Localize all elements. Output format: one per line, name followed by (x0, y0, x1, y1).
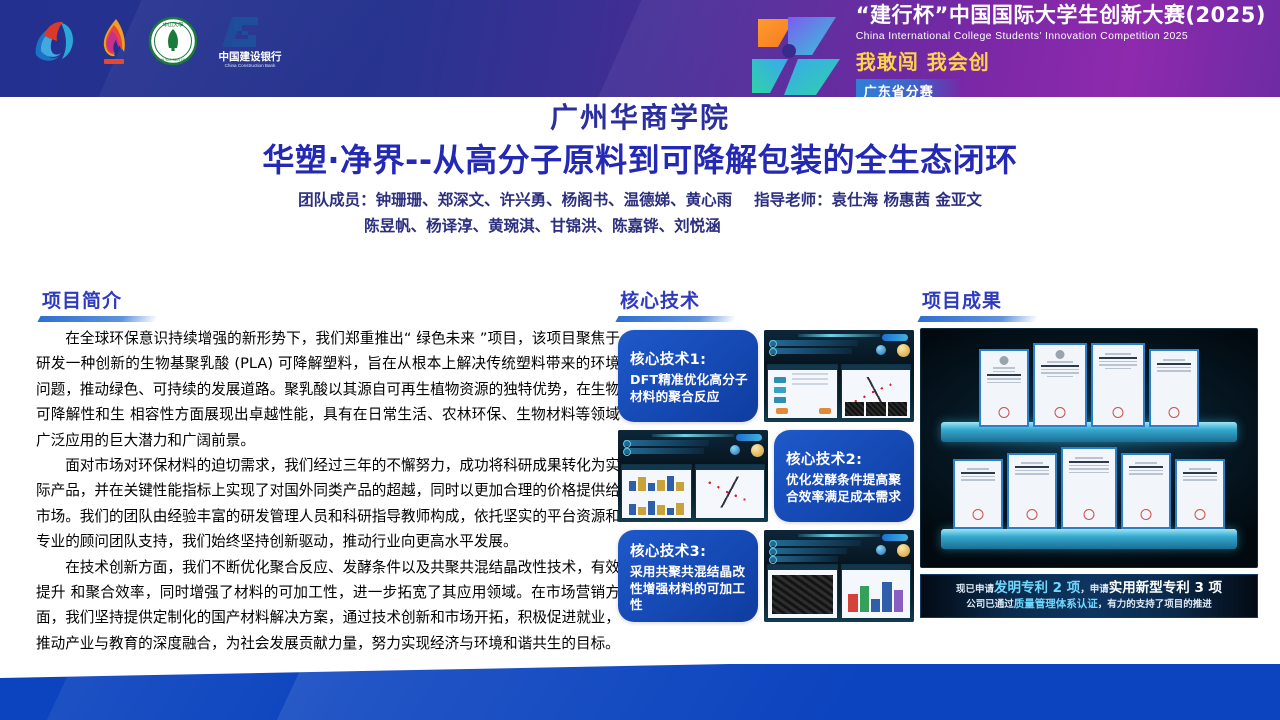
core-tech-2-desc: 优化发酵条件提高聚合效率满足成本需求 (786, 472, 906, 505)
slide-coin-icon (897, 544, 910, 557)
panel-header (768, 365, 837, 370)
core-tech-1-card: 核心技术1: DFT精准优化高分子材料的聚合反应 (618, 330, 758, 422)
advisors-label: 指导老师： (754, 191, 832, 209)
heading-underline-bar (37, 316, 158, 322)
project-results: 现已申请发明专利 2 项，申请实用新型专利 3 项 公司已通过质量管理体系认证，… (920, 328, 1258, 618)
certificate-line (1157, 367, 1191, 369)
intro-paragraph-3: 在技术创新方面，我们不断优化聚合反应、发酵条件以及共聚共混结晶改性技术，有效提升… (36, 555, 620, 657)
slide-panel-bars (621, 464, 692, 519)
bar-chart-group-top (629, 475, 684, 491)
flow-chip (774, 387, 786, 393)
bar (648, 501, 655, 515)
certificate-line (987, 374, 1021, 376)
university-seal-logo: 中山大學 SUN YAT-SEN UNIV (148, 16, 198, 66)
certificate-line (1099, 357, 1137, 359)
certificate-line (967, 468, 989, 470)
certificate-line (1157, 363, 1191, 365)
certificate-line (1189, 468, 1211, 470)
certificate-line (1015, 466, 1049, 468)
competition-title-cn: “建行杯”中国国际大学生创新大赛(2025) (856, 3, 1266, 28)
slide-bullet (770, 540, 861, 546)
core-technology-list: 核心技术1: DFT精准优化高分子材料的聚合反应 (618, 330, 914, 630)
panel-header (768, 565, 837, 570)
kinetics-curve-plot (701, 477, 759, 508)
team-members: 团队成员：钟珊珊、郑深文、许兴勇、杨阁书、温德娣、黄心雨 陈昱帆、杨译淳、黄琬淇… (298, 188, 732, 239)
flow-chip (774, 377, 786, 383)
certificate (1007, 453, 1057, 529)
certificate-line (1047, 361, 1073, 363)
poster-footer (0, 664, 1280, 720)
slide-body (618, 461, 768, 522)
certificate (1033, 343, 1087, 427)
slide-bullet (624, 448, 704, 454)
patent-banner-line-1: 现已申请发明专利 2 项，申请实用新型专利 3 项 (956, 581, 1222, 596)
slide-title-line (652, 434, 734, 437)
certificate (979, 349, 1029, 427)
bar (860, 586, 869, 611)
sem-image (772, 575, 833, 614)
bar (676, 482, 683, 491)
slide-coin-icon (751, 444, 764, 457)
bar (638, 477, 645, 490)
certificate-emblem (1056, 350, 1065, 359)
panel-header (842, 565, 911, 570)
certificate-line (1069, 468, 1109, 470)
heading-underline-bar (917, 316, 1038, 322)
poster-root: 中山大學 SUN YAT-SEN UNIV 中国建设银行 China Const… (0, 0, 1280, 720)
competition-x-mark (744, 7, 850, 97)
competition-title-en: China International College Students’ In… (856, 30, 1188, 42)
bar (657, 480, 664, 491)
certificate-emblem (1000, 356, 1009, 365)
slide-coin-icon (897, 344, 910, 357)
certificate-line (1129, 473, 1163, 475)
core-tech-item-1: 核心技术1: DFT精准优化高分子材料的聚合反应 (618, 330, 914, 422)
certificate-line (1047, 376, 1073, 378)
certificate-seal (999, 407, 1010, 418)
section-heading-core: 核心技术 (620, 286, 735, 322)
core-tech-2-title: 核心技术2: (786, 448, 906, 469)
slide-bullet (624, 440, 709, 446)
bar (894, 590, 903, 612)
certificate-line (1041, 372, 1079, 374)
certificate-line (1157, 370, 1191, 372)
certificates-display-photo (920, 328, 1258, 568)
section-heading-results-text: 项目成果 (922, 290, 1002, 312)
certificate-seal (1055, 407, 1066, 418)
people-block: 团队成员：钟珊珊、郑深文、许兴勇、杨阁书、温德娣、黄心雨 陈昱帆、杨译淳、黄琬淇… (0, 188, 1280, 239)
bar (848, 594, 857, 612)
certificate-seal (1113, 407, 1124, 418)
slide-bullet (770, 340, 858, 346)
certificate-line (1041, 369, 1079, 371)
bar-chart-group-bottom (629, 499, 684, 515)
patent-separator: ，申请 (1080, 584, 1109, 595)
certificate-line (1105, 368, 1131, 370)
team-members-line2: 陈昱帆、杨译淳、黄琬淇、甘锦洪、陈嘉铧、刘悦涵 (298, 214, 732, 240)
slide-body (764, 561, 914, 622)
certificate-line (1183, 476, 1217, 478)
heading-underline-bar (615, 316, 736, 322)
certificate-line (1183, 479, 1217, 481)
competition-branding: “建行杯”中国国际大学生创新大赛(2025) China Internation… (744, 3, 1266, 97)
certification-suffix: ，有力的支持了项目的推进 (1098, 599, 1212, 610)
certificate (953, 459, 1003, 529)
bar (638, 507, 645, 515)
sem-image (866, 402, 886, 416)
sponsor-logo-group: 中山大學 SUN YAT-SEN UNIV 中国建设银行 China Const… (28, 13, 288, 69)
certificate (1149, 349, 1199, 427)
wave-emblem-logo (28, 15, 80, 67)
certificate-line (1015, 470, 1049, 472)
slide-badge (882, 334, 908, 341)
certificate-line (1069, 465, 1109, 467)
slide-badge (736, 434, 762, 441)
certificate-line (1069, 461, 1109, 463)
bar (657, 505, 664, 515)
team-members-line1: 钟珊珊、郑深文、许兴勇、杨阁书、温德娣、黄心雨 (376, 191, 733, 209)
title-zone: 广州华商学院 华塑·净界--从高分子原料到可降解包装的全生态闭环 团队成员：钟珊… (0, 100, 1280, 240)
certificate-line (1129, 470, 1163, 472)
slide-header-strip (764, 530, 914, 561)
core-tech-1-desc: DFT精准优化高分子材料的聚合反应 (630, 372, 750, 405)
competition-region-badge: 广东省分赛 (856, 79, 960, 97)
certificate-line (1075, 457, 1103, 459)
slide-body (764, 361, 914, 422)
panel-line (792, 373, 828, 375)
core-tech-3-card: 核心技术3: 采用共聚共混结晶改性增强材料的可加工性 (618, 530, 758, 622)
flame-emblem-logo (94, 15, 134, 67)
panel-line (792, 378, 828, 380)
certificate-line (1041, 365, 1079, 367)
bar (629, 481, 636, 490)
slide-bullet (770, 556, 838, 562)
molecule-icon (776, 408, 788, 414)
bar (667, 508, 674, 515)
certificate-line (993, 367, 1015, 369)
certificate-line (961, 472, 995, 474)
certificate-line (961, 479, 995, 481)
patent-status-banner: 现已申请发明专利 2 项，申请实用新型专利 3 项 公司已通过质量管理体系认证，… (920, 574, 1258, 618)
ccb-bank-logo: 中国建设银行 China Construction Bank (212, 13, 288, 69)
core-tech-3-desc: 采用共聚共混结晶改性增强材料的可加工性 (630, 564, 750, 614)
core-tech-2-screenshot (618, 430, 768, 522)
bar (676, 503, 683, 515)
patent-applied-label: 现已申请 (956, 584, 994, 595)
certificate-line (1021, 462, 1043, 464)
project-title: 华塑·净界--从高分子原料到可降解包装的全生态闭环 (0, 141, 1280, 179)
certificate-line (987, 378, 1021, 380)
core-tech-item-3: 核心技术3: 采用共聚共混结晶改性增强材料的可加工性 (618, 530, 914, 622)
certificate (1175, 459, 1225, 529)
svg-text:中山大學: 中山大學 (163, 21, 184, 29)
core-tech-item-2: 核心技术2: 优化发酵条件提高聚合效率满足成本需求 (618, 430, 914, 522)
certificate (1091, 343, 1145, 427)
patent-banner-line-2: 公司已通过质量管理体系认证，有力的支持了项目的推进 (966, 599, 1212, 611)
footer-wedge-accent-2 (47, 664, 373, 720)
microscope-images (845, 402, 908, 416)
slide-title-line (798, 534, 880, 537)
certificate-line (1183, 472, 1217, 474)
certificate-row-top (979, 343, 1199, 427)
core-tech-1-title: 核心技术1: (630, 348, 750, 369)
slide-panel-flow (767, 364, 838, 419)
panel-header (696, 465, 765, 470)
section-heading-intro: 项目简介 (42, 286, 157, 322)
slide-circle-icon (876, 345, 886, 355)
utility-patent-count: 实用新型专利 3 项 (1109, 580, 1222, 596)
slide-circle-icon (876, 545, 886, 555)
panel-header (622, 465, 691, 470)
certificate-seal (1169, 407, 1180, 418)
core-tech-2-card: 核心技术2: 优化发酵条件提高聚合效率满足成本需求 (774, 430, 914, 522)
project-introduction: 在全球环保意识持续增强的新形势下，我们郑重推出“ 绿色未来 ”项目，该项目聚焦于… (36, 326, 620, 656)
certificate-line (1099, 361, 1137, 363)
bar (667, 476, 674, 490)
certificate-seal (1027, 509, 1038, 520)
slide-header-strip (764, 330, 914, 361)
certificate-line (1129, 466, 1163, 468)
bar (629, 504, 636, 515)
certificate-seal (973, 509, 984, 520)
certificate-line (993, 371, 1015, 373)
ccb-name-en: China Construction Bank (225, 63, 277, 68)
slide-panel-sem (767, 564, 838, 619)
section-heading-results: 项目成果 (922, 286, 1037, 322)
slide-panel-curve (695, 464, 766, 519)
core-tech-3-title: 核心技术3: (630, 540, 750, 561)
flow-chip (774, 397, 786, 403)
certificate-line (1105, 353, 1131, 355)
section-heading-intro-text: 项目简介 (42, 290, 122, 312)
molecule-icon (819, 408, 831, 414)
certificate-line (987, 382, 1021, 384)
sem-image (888, 402, 908, 416)
slide-badge (882, 534, 908, 541)
bar (882, 582, 891, 612)
slide-panel-barchart (841, 564, 912, 619)
invention-patent-count: 发明专利 2 项 (994, 580, 1080, 596)
core-tech-1-screenshot (764, 330, 914, 422)
slide-header-strip (618, 430, 768, 461)
intro-paragraph-1: 在全球环保意识持续增强的新形势下，我们郑重推出“ 绿色未来 ”项目，该项目聚焦于… (36, 326, 620, 453)
bar (648, 483, 655, 490)
section-heading-core-text: 核心技术 (620, 290, 700, 312)
certificate-line (1069, 472, 1109, 474)
school-name: 广州华商学院 (0, 100, 1280, 135)
bar-chart (848, 579, 903, 612)
slide-panel-chart (841, 364, 912, 419)
advisors-names: 袁仕海 杨惠茜 金亚文 (832, 191, 982, 209)
core-tech-3-screenshot (764, 530, 914, 622)
display-shelf-bottom (941, 529, 1237, 549)
certificate-line (1163, 359, 1185, 361)
certificate-line (1015, 473, 1049, 475)
slide-title-line (798, 334, 880, 337)
certificate-seal (1195, 509, 1206, 520)
certification-prefix: 公司已通过 (966, 599, 1014, 610)
certificate (1121, 453, 1171, 529)
certificate-row-bottom (953, 447, 1225, 529)
sem-image (845, 402, 865, 416)
poster-header: 中山大學 SUN YAT-SEN UNIV 中国建设银行 China Const… (0, 0, 1280, 97)
bar (871, 599, 880, 612)
certificate-line (1099, 364, 1137, 366)
certificate (1061, 447, 1117, 529)
certificate-seal (1084, 509, 1095, 520)
advisors: 指导老师：袁仕海 杨惠茜 金亚文 (754, 188, 982, 214)
slide-circle-icon (730, 445, 740, 455)
ccb-name-cn: 中国建设银行 (219, 50, 282, 63)
panel-header (842, 365, 911, 370)
certificate-line (1135, 462, 1157, 464)
intro-paragraph-2: 面对市场对环保材料的迫切需求，我们经过三年的不懈努力，成功将科研成果转化为实际产… (36, 453, 620, 555)
panel-line (792, 383, 828, 385)
svg-text:SUN YAT-SEN UNIV: SUN YAT-SEN UNIV (157, 58, 191, 62)
slide-bullet (770, 548, 847, 554)
quality-certification: 质量管理体系认证 (1014, 598, 1098, 610)
certificate-seal (1141, 509, 1152, 520)
slide-bullet (770, 348, 852, 354)
certificate-line (961, 476, 995, 478)
team-members-label: 团队成员： (298, 191, 376, 209)
competition-slogan: 我敢闯 我会创 (856, 46, 990, 75)
